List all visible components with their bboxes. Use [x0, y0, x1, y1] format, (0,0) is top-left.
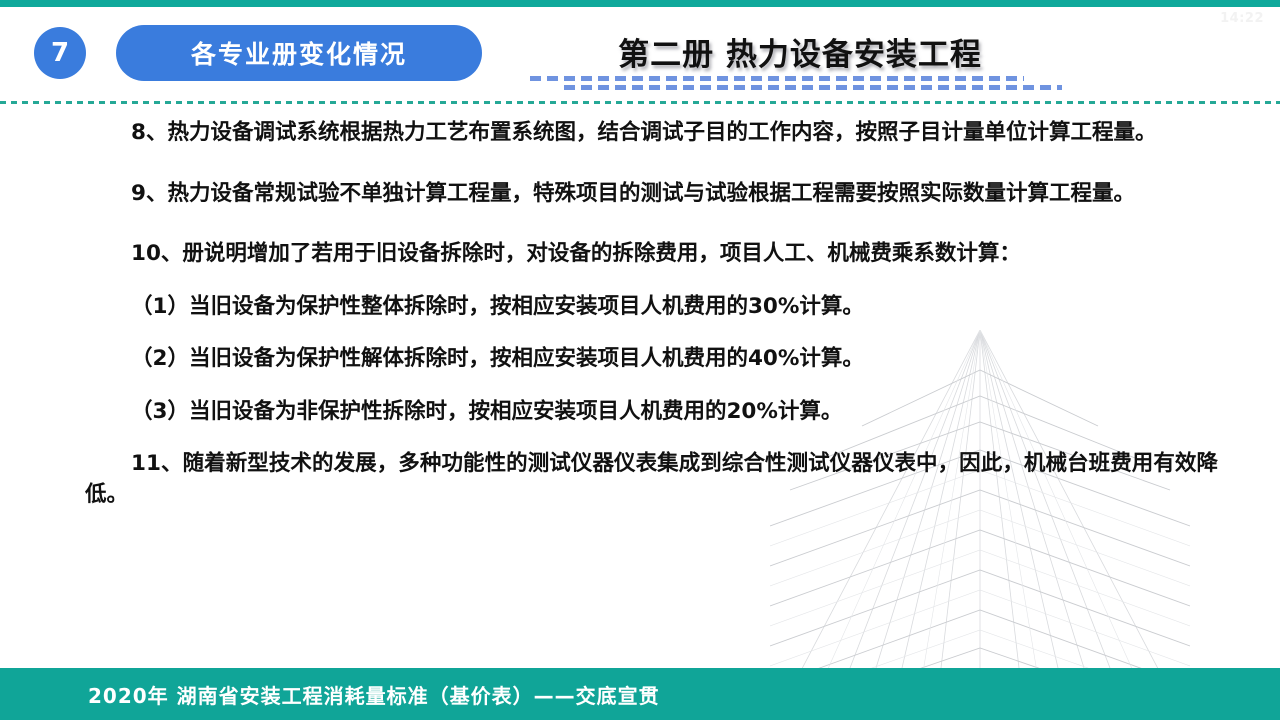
- slide-header: 7 各专业册变化情况 第二册 热力设备安装工程: [0, 7, 1280, 105]
- paragraph-spacer: [0, 322, 1280, 344]
- title-underline-dash-upper: [530, 76, 1024, 81]
- body-paragraph-9: 9、热力设备常规试验不单独计算工程量，特殊项目的测试与试验根据工程需要按照实际数…: [85, 179, 1218, 210]
- footer-text: 2020年 湖南省安装工程消耗量标准（基价表）——交底宣贯: [0, 668, 1280, 720]
- paragraph-spacer: [0, 427, 1280, 449]
- slide-body: 8、热力设备调试系统根据热力工艺布置系统图，结合调试子目的工作内容，按照子目计量…: [0, 118, 1280, 663]
- section-title-pill: 各专业册变化情况: [116, 25, 482, 81]
- paragraph-spacer: [0, 209, 1280, 239]
- body-subitem-2: （2）当旧设备为保护性解体拆除时，按相应安装项目人机费用的40%计算。: [85, 344, 1218, 375]
- deck-title-block: 第二册 热力设备安装工程: [520, 19, 1080, 99]
- header-divider-dotted: [0, 101, 1280, 104]
- body-paragraph-8: 8、热力设备调试系统根据热力工艺布置系统图，结合调试子目的工作内容，按照子目计量…: [85, 118, 1218, 149]
- slide-canvas: 14:22 7 各专业册变化情况 第二册 热力设备安装工程 8、热力设备调试系统…: [0, 0, 1280, 720]
- paragraph-spacer: [0, 270, 1280, 292]
- clock-readout: 14:22: [1220, 11, 1264, 26]
- paragraph-spacer: [0, 375, 1280, 397]
- body-paragraph-10: 10、册说明增加了若用于旧设备拆除时，对设备的拆除费用，项目人工、机械费乘系数计…: [85, 239, 1218, 270]
- body-paragraph-11: 11、随着新型技术的发展，多种功能性的测试仪器仪表集成到综合性测试仪器仪表中，因…: [85, 449, 1218, 510]
- paragraph-spacer: [0, 149, 1280, 179]
- body-subitem-1: （1）当旧设备为保护性整体拆除时，按相应安装项目人机费用的30%计算。: [85, 292, 1218, 323]
- deck-title: 第二册 热力设备安装工程: [520, 29, 1080, 74]
- footer-bar: 2020年 湖南省安装工程消耗量标准（基价表）——交底宣贯: [0, 668, 1280, 720]
- body-subitem-3: （3）当旧设备为非保护性拆除时，按相应安装项目人机费用的20%计算。: [85, 397, 1218, 428]
- top-accent-rule: [0, 0, 1280, 7]
- title-underline-dash-lower: [564, 85, 1062, 90]
- step-number-badge: 7: [34, 27, 86, 79]
